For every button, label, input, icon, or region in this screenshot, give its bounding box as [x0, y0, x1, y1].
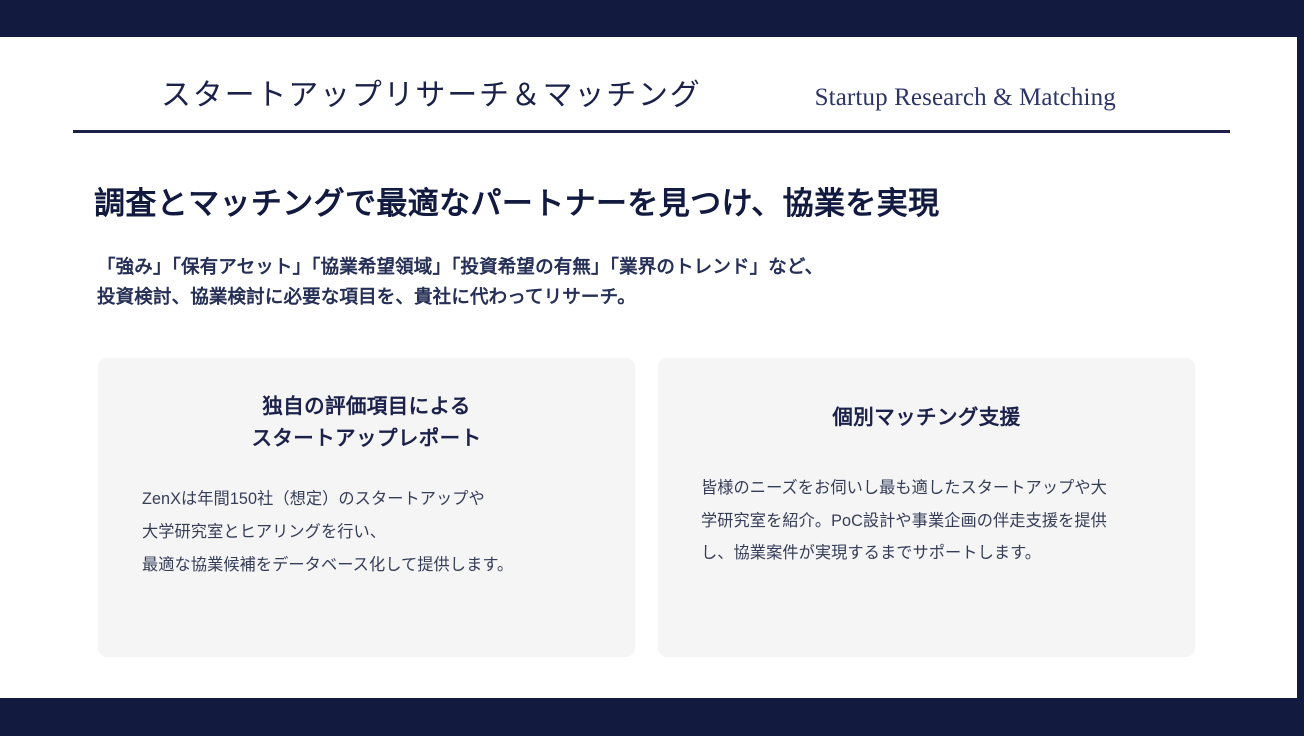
card-matching-support-body: 皆様のニーズをお伺いし最も適したスタートアップや大 学研究室を紹介。PoC設計や… [658, 434, 1195, 569]
card-matching-support-body-line-1: 皆様のニーズをお伺いし最も適したスタートアップや大 [701, 472, 1150, 504]
header-title-english: Startup Research & Matching [815, 84, 1116, 112]
feature-card-group: 独自の評価項目による スタートアップレポート ZenXは年間150社（想定）のス… [98, 358, 1195, 657]
card-startup-report-title-line-2: スタートアップレポート [98, 423, 635, 455]
slide-root: スタートアップリサーチ＆マッチング Startup Research & Mat… [0, 0, 1304, 736]
header-divider-rule [73, 130, 1230, 133]
card-matching-support: 個別マッチング支援 皆様のニーズをお伺いし最も適したスタートアップや大 学研究室… [658, 358, 1195, 657]
lead-line-2: 投資検討、協業検討に必要な項目を、貴社に代わってリサーチ。 [97, 282, 823, 312]
header-title-japanese: スタートアップリサーチ＆マッチング [73, 70, 702, 114]
slide-header: スタートアップリサーチ＆マッチング Startup Research & Mat… [73, 70, 1230, 136]
lead-paragraph: 「強み」「保有アセット」「協業希望領域」「投資希望の有無」「業界のトレンド」など… [97, 252, 823, 312]
card-startup-report-body: ZenXは年間150社（想定）のスタートアップや 大学研究室とヒアリングを行い、… [98, 456, 635, 582]
card-startup-report-body-line-2: 大学研究室とヒアリングを行い、 [142, 516, 635, 549]
card-matching-support-title-line-1: 個別マッチング支援 [658, 402, 1195, 434]
card-startup-report-title-line-1: 独自の評価項目による [98, 391, 635, 423]
bottom-navy-band [0, 698, 1304, 736]
card-matching-support-body-line-2: 学研究室を紹介。PoC設計や事業企画の伴走支援を提供 [701, 505, 1150, 537]
card-startup-report-body-line-3: 最適な協業候補をデータベース化して提供します。 [142, 549, 635, 582]
right-navy-edge [1297, 0, 1304, 736]
top-navy-band [0, 0, 1304, 37]
card-startup-report: 独自の評価項目による スタートアップレポート ZenXは年間150社（想定）のス… [98, 358, 635, 657]
card-startup-report-title: 独自の評価項目による スタートアップレポート [98, 358, 635, 456]
card-matching-support-title: 個別マッチング支援 [658, 358, 1195, 434]
page-title: 調査とマッチングで最適なパートナーを見つけ、協業を実現 [94, 178, 940, 223]
card-startup-report-body-line-1: ZenXは年間150社（想定）のスタートアップや [142, 483, 635, 516]
header-titles: スタートアップリサーチ＆マッチング Startup Research & Mat… [73, 70, 1230, 132]
lead-line-1: 「強み」「保有アセット」「協業希望領域」「投資希望の有無」「業界のトレンド」など… [97, 252, 823, 282]
card-matching-support-body-line-3: し、協業案件が実現するまでサポートします。 [701, 537, 1150, 569]
